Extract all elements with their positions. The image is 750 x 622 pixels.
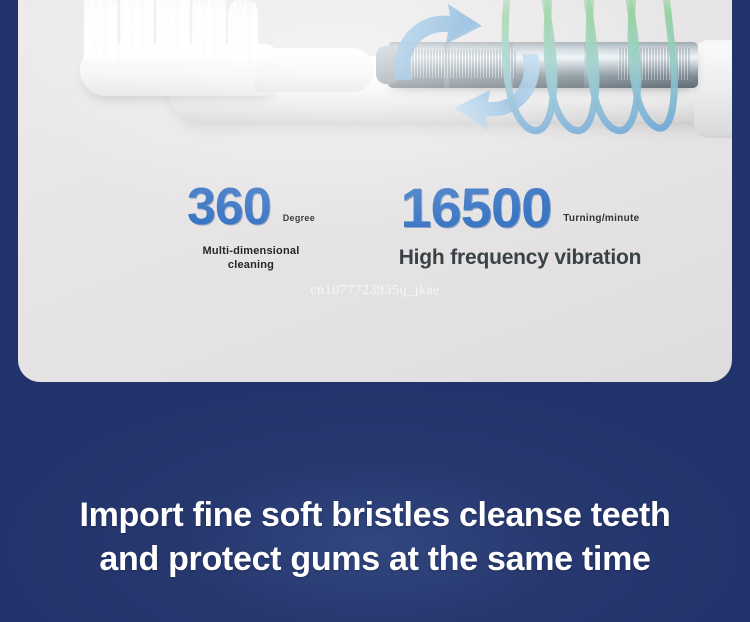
stat-16500-caption: High frequency vibration: [370, 246, 670, 270]
vibration-wave-icon: [498, 0, 678, 158]
stat-16500-unit: Turning/minute: [563, 213, 639, 234]
stat-360-caption-line2: cleaning: [228, 259, 274, 271]
stat-360-unit: Degree: [283, 213, 315, 232]
headline: Import fine soft bristles cleanse teeth …: [0, 494, 750, 581]
stat-16500-value: 16500: [401, 182, 552, 234]
stat-360: 360 Degree Multi-dimensional cleaning: [136, 184, 366, 272]
stat-16500: 16500 Turning/minute High frequency vibr…: [370, 182, 670, 270]
stat-360-caption-line1: Multi-dimensional: [203, 245, 300, 257]
product-photo: cn1075010130wzpae: [18, 0, 732, 183]
bristle-tufts: [84, 0, 289, 60]
stat-360-caption: Multi-dimensional cleaning: [136, 245, 366, 273]
headline-line2: and protect gums at the same time: [0, 538, 750, 582]
stat-360-value: 360: [187, 184, 271, 232]
watermark-center: cn1077723935q_jkae: [18, 283, 732, 299]
product-banner: cn1075010130wzpae 360 Degree Multi-dimen…: [0, 0, 750, 622]
product-card: cn1075010130wzpae 360 Degree Multi-dimen…: [18, 0, 732, 382]
stats-row: 360 Degree Multi-dimensional cleaning 16…: [18, 174, 732, 314]
headline-line1: Import fine soft bristles cleanse teeth: [0, 494, 750, 538]
handle-tip: [694, 40, 732, 138]
